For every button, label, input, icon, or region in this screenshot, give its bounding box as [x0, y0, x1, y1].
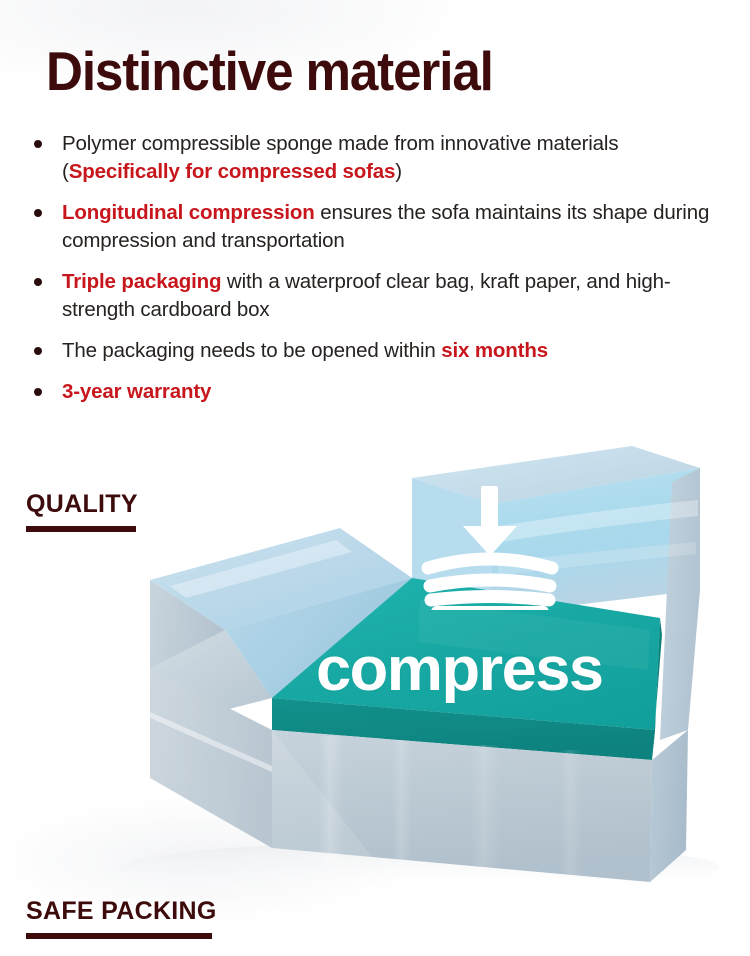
safe-packing-section-text: SAFE PACKING: [26, 897, 217, 925]
page-title: Distinctive material: [46, 42, 493, 100]
bullet-text-segment: ): [395, 160, 402, 183]
bullet-text-segment: 3-year warranty: [62, 380, 211, 403]
wave-line-2: [430, 580, 550, 586]
bullet-text-segment: six months: [441, 339, 548, 362]
arrow-head: [463, 526, 517, 556]
bullet-text-segment: (: [62, 160, 69, 183]
wave-line-3: [431, 597, 549, 601]
bullet-text-segment: Triple packaging: [62, 270, 221, 293]
quality-section-label: QUALITY: [26, 490, 138, 532]
quality-section-text: QUALITY: [26, 490, 138, 518]
feature-bullet-list: Polymer compressible sponge made from in…: [28, 130, 740, 419]
safe-packing-section-label: SAFE PACKING: [26, 897, 217, 939]
bullet-text-segment: Specifically for compressed sofas: [69, 160, 396, 183]
wave-line-1: [428, 559, 552, 568]
list-item: The packaging needs to be opened within …: [28, 337, 740, 365]
quality-underline-bar: [26, 526, 136, 532]
list-item: Triple packaging with a waterproof clear…: [28, 268, 740, 324]
foam-base-grain-2: [392, 740, 412, 872]
wave-line-4: [431, 606, 549, 610]
foam-base-grain-4: [560, 750, 582, 882]
safe-packing-underline-bar: [26, 933, 212, 939]
bullet-text-segment: Longitudinal compression: [62, 201, 315, 224]
compress-down-arrow-icon: [418, 482, 562, 610]
bullet-text-segment: Polymer compressible sponge made from in…: [62, 132, 618, 155]
list-item: Polymer compressible sponge made from in…: [28, 130, 740, 186]
list-item: 3-year warranty: [28, 378, 740, 406]
bullet-text-segment: The packaging needs to be opened within: [62, 339, 441, 362]
list-item: Longitudinal compression ensures the sof…: [28, 199, 740, 255]
foam-base-grain-3: [470, 745, 500, 879]
compress-label: compress: [316, 638, 603, 702]
